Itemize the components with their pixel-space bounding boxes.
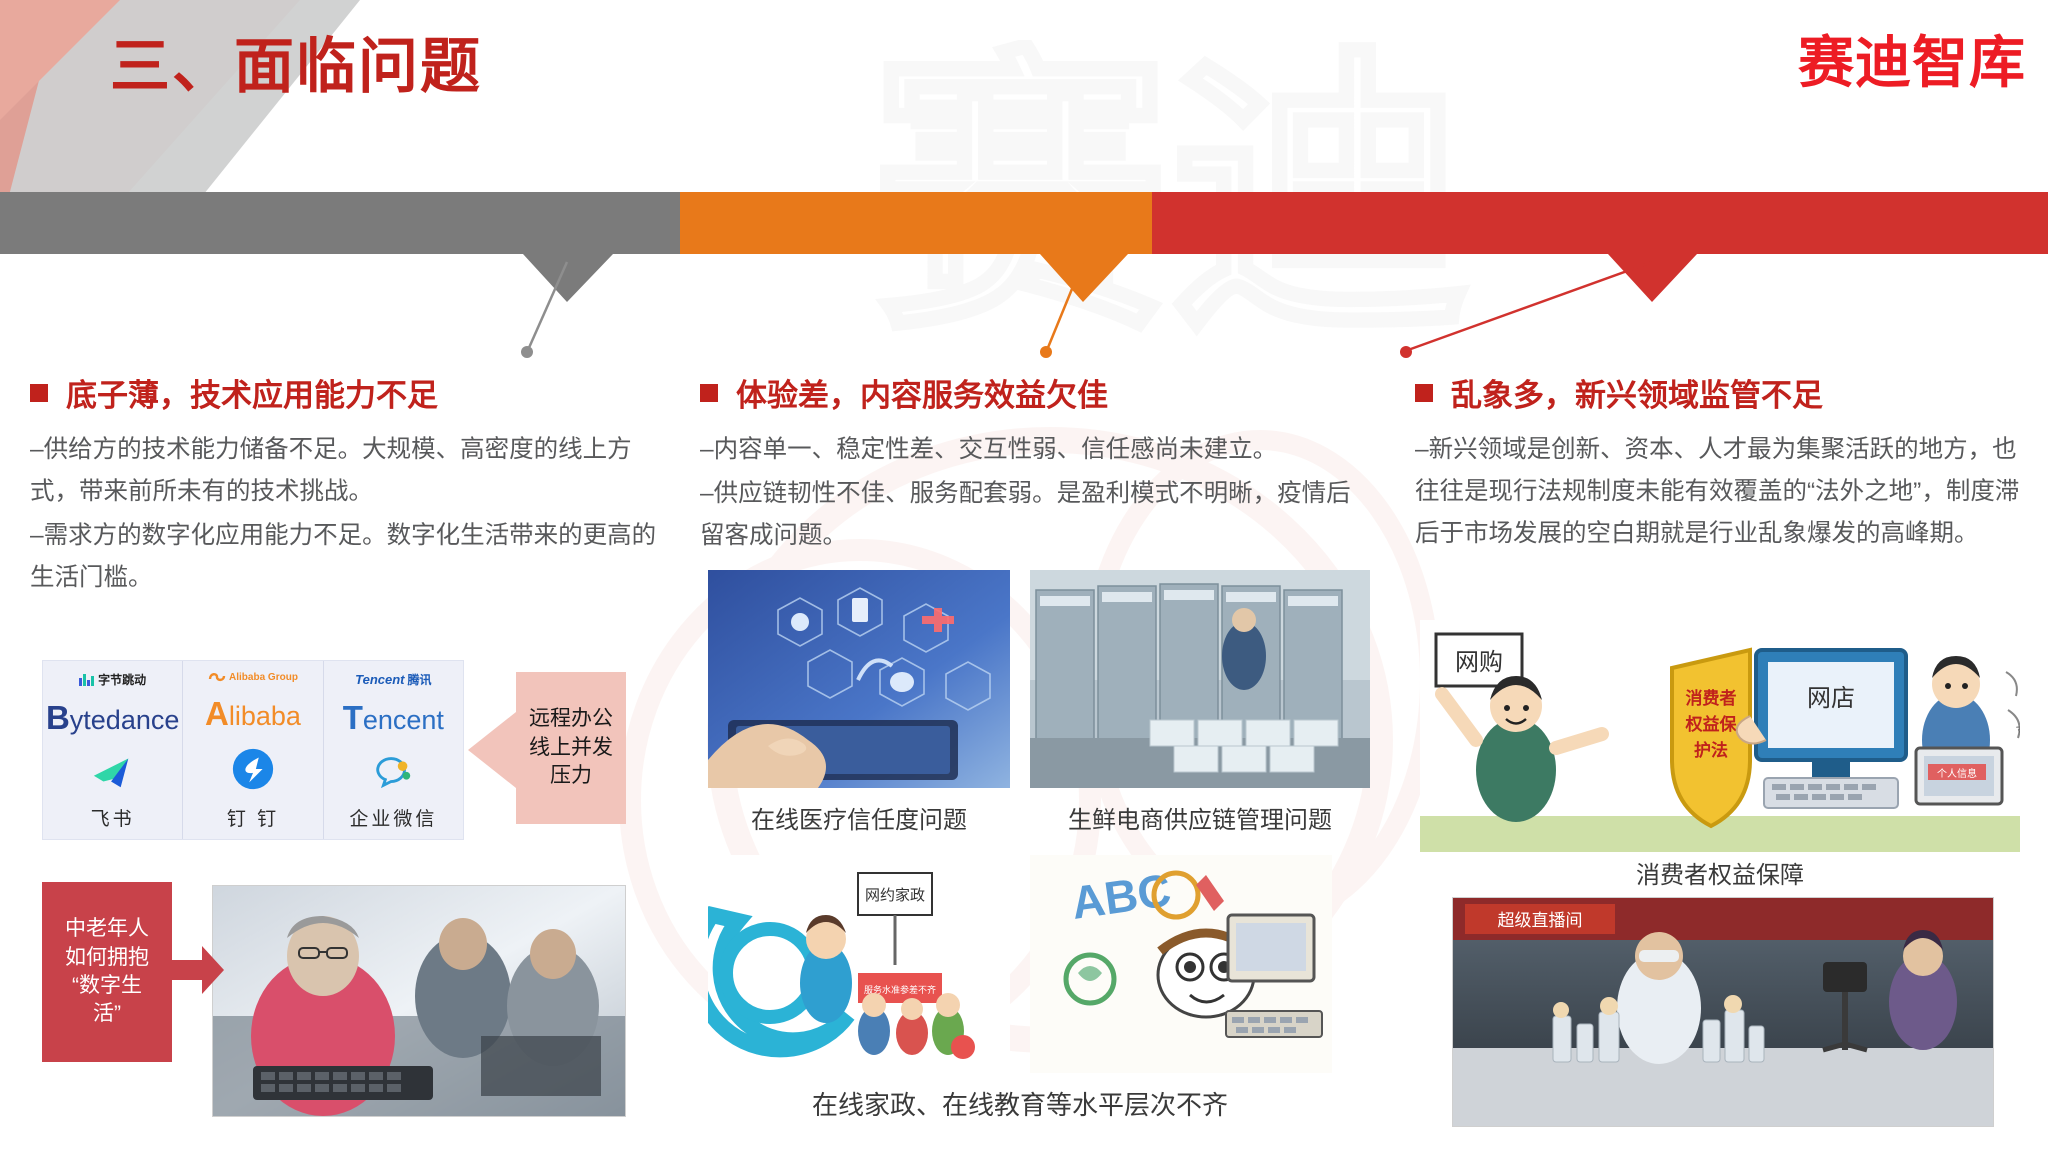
column-1: 底子薄，技术应用能力不足 –供给方的技术能力储备不足。大规模、高密度的线上方式，… [30,370,670,602]
elderly-callout: 中老年人 如何拥抱 “数字生 活” [42,882,172,1062]
fresh-ecommerce-photo [1030,570,1370,788]
page-title: 三、面临问题 [110,18,482,105]
consumer-rights-caption: 消费者权益保障 [1420,855,2020,890]
dingtalk-icon [230,746,276,792]
bytedance-brand: Bytedance [46,699,179,737]
bullet-square-icon [1415,384,1433,402]
column-1-heading-text: 底子薄，技术应用能力不足 [66,370,438,415]
bullet-square-icon [700,384,718,402]
column-3: 乱象多，新兴领域监管不足 –新兴领域是创新、资本、人才最为集聚活跃的地方，也往往… [1415,370,2035,557]
consumer-rights-cartoon: 网购 消费者 权益保 护法 网店 [1420,620,2020,852]
logo-cell-tencent: Tencent 腾讯 Tencent 企业微信 [324,661,463,839]
alibaba-en-label: Alibaba Group [229,672,298,683]
column-3-heading: 乱象多，新兴领域监管不足 [1415,370,2035,415]
dingtalk-label: 钉 钉 [227,804,279,831]
column-1-para-2: –需求方的数字化应用能力不足。数字化生活带来的更高的生活门槛。 [30,515,670,599]
column-2-para-1: –内容单一、稳定性差、交互性弱、信任感尚未建立。 [700,429,1370,471]
bytedance-wordmark: 字节跳动 [79,671,146,688]
remote-work-callout-text: 远程办公 线上并发 压力 [529,705,613,790]
column-1-para-1: –供给方的技术能力储备不足。大规模、高密度的线上方式，带来前所未有的技术挑战。 [30,429,670,513]
wangdian-label: 网店 [1807,685,1855,712]
online-education-photo: ABC [1030,855,1332,1073]
svg-text:消费者: 消费者 [1686,688,1737,708]
super-live-label: 超级直播间 [1498,911,1583,930]
bytedance-cn-label: 字节跳动 [98,671,146,688]
section-ribbon [0,192,2048,284]
wangyue-jiazheng-label: 网约家政 [865,887,925,904]
column-1-body: –供给方的技术能力储备不足。大规模、高密度的线上方式，带来前所未有的技术挑战。 … [30,429,670,600]
remote-work-callout: 远程办公 线上并发 压力 [516,672,626,824]
online-medical-caption: 在线医疗信任度问题 [708,800,1010,835]
elderly-callout-text: 中老年人 如何拥抱 “数字生 活” [65,915,149,1028]
logo-cell-alibaba: Alibaba Group Alibaba 钉 钉 [183,661,323,839]
column-3-heading-text: 乱象多，新兴领域监管不足 [1451,370,1823,415]
tech-logos-panel: 字节跳动 Bytedance 飞书 Alibaba Group Alibaba [42,660,464,840]
livestream-sales-photo: 超级直播间 [1452,897,1994,1127]
tencent-brand: Tencent [343,699,444,737]
column-2-heading-text: 体验差，内容服务效益欠佳 [736,370,1108,415]
feishu-icon [90,747,136,793]
tencent-wordmark: Tencent 腾讯 [355,671,431,688]
column-3-body: –新兴领域是创新、资本、人才最为集聚活跃的地方，也往往是现行法规制度未能有效覆盖… [1415,429,2035,555]
wangguo-label: 网购 [1455,649,1503,676]
online-medical-photo [708,570,1010,788]
alibaba-wordmark: Alibaba Group [208,671,298,683]
elderly-computer-photo [212,885,626,1117]
alibaba-brand: Alibaba [205,695,301,733]
column-2: 体验差，内容服务效益欠佳 –内容单一、稳定性差、交互性弱、信任感尚未建立。 –供… [700,370,1370,559]
logo-cell-bytedance: 字节跳动 Bytedance 飞书 [43,661,183,839]
wecom-icon [370,747,416,793]
fresh-ecommerce-caption: 生鲜电商供应链管理问题 [1030,800,1370,835]
column-2-wide-caption: 在线家政、在线教育等水平层次不齐 [708,1085,1332,1122]
feishu-label: 飞书 [91,804,135,831]
bullet-square-icon [30,384,48,402]
column-3-para-1: –新兴领域是创新、资本、人才最为集聚活跃的地方，也往往是现行法规制度未能有效覆盖… [1415,429,2035,555]
column-2-body: –内容单一、稳定性差、交互性弱、信任感尚未建立。 –供应链韧性不佳、服务配套弱。… [700,429,1370,557]
elderly-arrow-icon [168,940,224,1000]
column-1-heading: 底子薄，技术应用能力不足 [30,370,670,415]
wecom-label: 企业微信 [349,804,437,831]
svg-text:护法: 护法 [1694,740,1728,760]
tencent-en-label: Tencent [355,672,404,687]
svg-text:权益保: 权益保 [1685,714,1738,734]
personal-info-label: 个人信息 [1937,767,1977,780]
online-housekeeping-photo: 网约家政 服务水准参差不齐 [708,855,1010,1073]
tencent-cn-label: 腾讯 [407,671,431,688]
column-2-heading: 体验差，内容服务效益欠佳 [700,370,1370,415]
column-2-para-2: –供应链韧性不佳、服务配套弱。是盈利模式不明晰，疫情后留客成问题。 [700,473,1370,557]
brand-logo: 赛迪智库 [1798,18,2026,99]
